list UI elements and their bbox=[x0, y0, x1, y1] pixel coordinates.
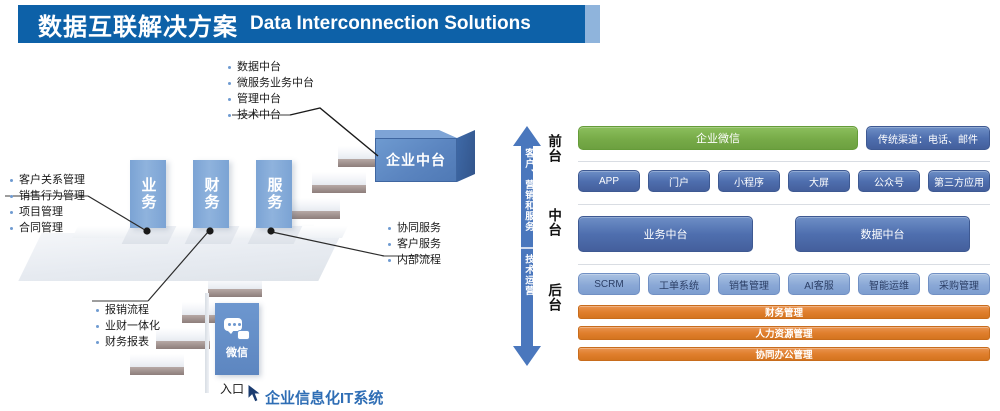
list-item: 协同服务 bbox=[388, 220, 441, 236]
list-item: 报销流程 bbox=[96, 302, 160, 318]
bullet-dot bbox=[228, 82, 231, 85]
list-item: 合同管理 bbox=[10, 220, 85, 236]
callout-left-management: 客户关系管理 销售行为管理 项目管理 合同管理 bbox=[10, 172, 85, 236]
list-item: 财务报表 bbox=[96, 334, 160, 350]
chip-ticket-system[interactable]: 工单系统 bbox=[648, 273, 710, 295]
chip-mini-program[interactable]: 小程序 bbox=[718, 170, 780, 192]
arrow-bottom-label: 技术运营 bbox=[521, 254, 535, 296]
chip-business-platform[interactable]: 业务中台 bbox=[578, 216, 753, 252]
back-stage-divider bbox=[578, 264, 990, 265]
slide-canvas: 数据互联解决方案 Data Interconnection Solutions bbox=[0, 0, 1000, 411]
bullet-dot bbox=[96, 309, 99, 312]
chip-big-screen[interactable]: 大屏 bbox=[788, 170, 850, 192]
stage-label-back: 后台 bbox=[546, 283, 560, 312]
bullet-dot bbox=[388, 259, 391, 262]
chip-ai-service[interactable]: AI客服 bbox=[788, 273, 850, 295]
chip-third-party-app[interactable]: 第三方应用 bbox=[928, 170, 990, 192]
list-item-label: 内部流程 bbox=[397, 252, 441, 268]
chip-enterprise-wechat[interactable]: 企业微信 bbox=[578, 126, 858, 150]
chip-portal[interactable]: 门户 bbox=[648, 170, 710, 192]
bullet-dot bbox=[228, 66, 231, 69]
list-item: 管理中台 bbox=[228, 91, 314, 107]
stage-label-front: 前台 bbox=[546, 134, 560, 163]
list-item: 客户服务 bbox=[388, 236, 441, 252]
slide-title-bar: 数据互联解决方案 Data Interconnection Solutions bbox=[18, 5, 585, 43]
list-item-label: 管理中台 bbox=[237, 91, 281, 107]
bullet-dot bbox=[10, 211, 13, 214]
title-bar-accent-cap bbox=[585, 5, 600, 43]
bullet-dot bbox=[10, 195, 13, 198]
list-item-label: 技术中台 bbox=[237, 107, 281, 123]
middle-stage-divider-top bbox=[578, 204, 990, 205]
bullet-dot bbox=[228, 98, 231, 101]
page-title-cn: 数据互联解决方案 bbox=[38, 7, 238, 42]
list-item-label: 数据中台 bbox=[237, 59, 281, 75]
list-item-label: 销售行为管理 bbox=[19, 188, 85, 204]
bullet-dot bbox=[388, 243, 391, 246]
front-stage-primary-row: 企业微信 传统渠道：电话、邮件 bbox=[578, 126, 990, 150]
chip-procurement[interactable]: 采购管理 bbox=[928, 273, 990, 295]
list-item: 客户关系管理 bbox=[10, 172, 85, 188]
page-title-en: Data Interconnection Solutions bbox=[250, 13, 531, 35]
chip-sales-management[interactable]: 销售管理 bbox=[718, 273, 780, 295]
bullet-dot bbox=[228, 114, 231, 117]
chip-official-account[interactable]: 公众号 bbox=[858, 170, 920, 192]
list-item-label: 微服务业务中台 bbox=[237, 75, 314, 91]
chip-traditional-channels[interactable]: 传统渠道：电话、邮件 bbox=[866, 126, 990, 150]
bar-hr-management[interactable]: 人力资源管理 bbox=[578, 326, 990, 340]
list-item: 内部流程 bbox=[388, 252, 441, 268]
arrow-top-label: 客户、营销和服务 bbox=[521, 148, 535, 232]
bullet-dot bbox=[388, 227, 391, 230]
list-item-label: 项目管理 bbox=[19, 204, 63, 220]
front-stage-divider bbox=[578, 161, 990, 162]
list-item-label: 合同管理 bbox=[19, 220, 63, 236]
chip-data-platform[interactable]: 数据中台 bbox=[795, 216, 970, 252]
bullet-dot bbox=[96, 325, 99, 328]
list-item: 销售行为管理 bbox=[10, 188, 85, 204]
bar-collaboration-management[interactable]: 协同办公管理 bbox=[578, 347, 990, 361]
list-item: 项目管理 bbox=[10, 204, 85, 220]
list-item: 微服务业务中台 bbox=[228, 75, 314, 91]
back-stage-shared-bars: 财务管理 人力资源管理 协同办公管理 bbox=[578, 305, 990, 361]
bullet-dot bbox=[96, 341, 99, 344]
list-item-label: 客户关系管理 bbox=[19, 172, 85, 188]
right-architecture-diagram: 客户、营销和服务 技术运营 前台 中台 后台 企业微信 传统渠道：电话、邮件 A… bbox=[500, 48, 1000, 411]
list-item: 数据中台 bbox=[228, 59, 314, 75]
double-headed-vertical-arrow-icon: 客户、营销和服务 技术运营 bbox=[512, 126, 542, 366]
stage-label-middle: 中台 bbox=[546, 208, 560, 237]
middle-stage-row: 业务中台 数据中台 bbox=[578, 216, 990, 252]
list-item-label: 协同服务 bbox=[397, 220, 441, 236]
callout-bottom-finance: 报销流程 业财一体化 财务报表 bbox=[96, 302, 160, 350]
list-item-label: 报销流程 bbox=[105, 302, 149, 318]
bullet-dot bbox=[10, 227, 13, 230]
chip-app[interactable]: APP bbox=[578, 170, 640, 192]
back-stage-system-row: SCRM 工单系统 销售管理 AI客服 智能运维 采购管理 bbox=[578, 273, 990, 295]
list-item-label: 财务报表 bbox=[105, 334, 149, 350]
list-item: 业财一体化 bbox=[96, 318, 160, 334]
list-item: 技术中台 bbox=[228, 107, 314, 123]
chip-scrm[interactable]: SCRM bbox=[578, 273, 640, 295]
bullet-dot bbox=[10, 179, 13, 182]
list-item-label: 客户服务 bbox=[397, 236, 441, 252]
bar-finance-management[interactable]: 财务管理 bbox=[578, 305, 990, 319]
front-stage-channel-row: APP 门户 小程序 大屏 公众号 第三方应用 bbox=[578, 170, 990, 192]
callout-top-platforms: 数据中台 微服务业务中台 管理中台 技术中台 bbox=[228, 59, 314, 123]
list-item-label: 业财一体化 bbox=[105, 318, 160, 334]
chip-smart-ops[interactable]: 智能运维 bbox=[858, 273, 920, 295]
callout-right-services: 协同服务 客户服务 内部流程 bbox=[388, 220, 441, 268]
